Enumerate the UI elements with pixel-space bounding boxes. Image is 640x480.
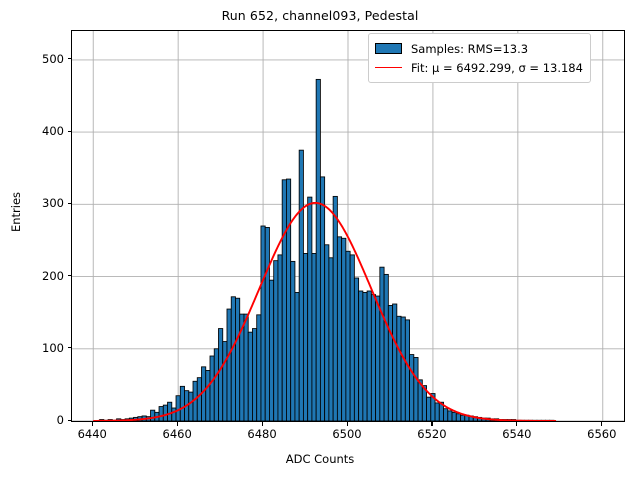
y-tick-label: 0 — [12, 413, 64, 427]
histogram-bar — [282, 180, 286, 421]
histogram-bar — [376, 296, 380, 421]
histogram-bar — [371, 295, 375, 421]
histogram-bar — [363, 292, 367, 421]
histogram-bar — [359, 291, 363, 421]
histogram-bar — [176, 396, 180, 421]
histogram-bar — [227, 309, 231, 421]
histogram-bar — [456, 414, 460, 421]
histogram-bar — [303, 253, 307, 421]
histogram-bar — [333, 196, 337, 421]
x-tick-label: 6460 — [163, 427, 192, 441]
legend-line-icon — [375, 67, 402, 68]
y-tick-mark — [68, 203, 72, 204]
y-tick-label: 200 — [12, 269, 64, 283]
histogram-bar — [337, 237, 341, 421]
histogram-bar — [393, 304, 397, 421]
histogram-bar — [189, 392, 193, 421]
histogram-bar — [308, 197, 312, 421]
legend-box: Samples: RMS=13.3 Fit: μ = 6492.299, σ =… — [368, 33, 591, 83]
histogram-bar — [159, 407, 163, 421]
x-tick-mark — [262, 422, 263, 426]
histogram-bar — [206, 370, 210, 421]
histogram-bar — [401, 317, 405, 421]
histogram-bar — [367, 291, 371, 421]
histogram-bar — [346, 251, 350, 421]
histogram-bar — [299, 150, 303, 421]
legend-label-samples: Samples: RMS=13.3 — [411, 42, 528, 56]
legend-item-samples: Samples: RMS=13.3 — [375, 39, 583, 58]
histogram-bar — [316, 79, 320, 421]
x-tick-mark — [177, 422, 178, 426]
histogram-bar — [320, 177, 324, 421]
histogram-bar — [427, 397, 431, 421]
x-tick-label: 6500 — [332, 427, 361, 441]
histogram-bar — [223, 342, 227, 421]
plot-svg — [72, 31, 624, 421]
histogram-bar — [388, 305, 392, 421]
y-tick-label: 100 — [12, 341, 64, 355]
x-tick-label: 6480 — [247, 427, 276, 441]
histogram-bar — [397, 316, 401, 421]
x-tick-label: 6540 — [502, 427, 531, 441]
x-axis-label: ADC Counts — [0, 452, 640, 466]
x-tick-mark — [347, 422, 348, 426]
histogram-bar — [295, 292, 299, 421]
histogram-bar — [286, 179, 290, 421]
histogram-bar — [257, 315, 261, 421]
legend-label-fit: Fit: μ = 6492.299, σ = 13.184 — [411, 61, 583, 75]
x-tick-mark — [516, 422, 517, 426]
legend-item-fit: Fit: μ = 6492.299, σ = 13.184 — [375, 58, 583, 77]
histogram-bar — [325, 245, 329, 421]
histogram-bar — [252, 329, 256, 421]
histogram-bar — [384, 274, 388, 421]
histogram-bar — [342, 238, 346, 421]
x-tick-label: 6520 — [417, 427, 446, 441]
x-tick-mark — [431, 422, 432, 426]
histogram-bar — [380, 267, 384, 421]
y-tick-mark — [68, 275, 72, 276]
histogram-bar — [354, 278, 358, 421]
y-axis-label: Entries — [9, 162, 23, 262]
histogram-bar — [350, 255, 354, 421]
y-tick-mark — [68, 131, 72, 132]
histogram-bar — [180, 386, 184, 421]
histogram-bar — [269, 280, 273, 421]
histogram-bar — [151, 410, 155, 421]
histogram-bar — [261, 226, 265, 421]
histogram-bar — [278, 255, 282, 421]
histogram-bar — [265, 227, 269, 421]
histogram-bar — [218, 329, 222, 421]
histogram-bar — [210, 356, 214, 421]
x-tick-label: 6560 — [587, 427, 616, 441]
chart-title: Run 652, channel093, Pedestal — [0, 8, 640, 23]
histogram-bar — [461, 415, 465, 421]
histogram-bar — [168, 402, 172, 421]
histogram-bar — [244, 314, 248, 421]
histogram-bar — [405, 320, 409, 421]
histogram-bar — [452, 412, 456, 421]
y-tick-mark — [68, 347, 72, 348]
histogram-bar — [197, 378, 201, 421]
y-tick-label: 500 — [12, 52, 64, 66]
histogram-bar — [414, 357, 418, 421]
x-tick-mark — [601, 422, 602, 426]
histogram-bars — [100, 79, 554, 421]
histogram-bar — [444, 409, 448, 421]
y-tick-label: 400 — [12, 124, 64, 138]
histogram-bar — [214, 349, 218, 421]
histogram-bar — [435, 403, 439, 421]
histogram-bar — [291, 261, 295, 421]
histogram-bar — [248, 332, 252, 421]
histogram-bar — [410, 355, 414, 421]
histogram-bar — [163, 405, 167, 421]
histogram-bar — [448, 411, 452, 421]
x-tick-label: 6440 — [78, 427, 107, 441]
plot-area — [71, 30, 625, 422]
histogram-bar — [235, 298, 239, 421]
figure-canvas: Run 652, channel093, Pedestal 6440646064… — [0, 0, 640, 480]
histogram-bar — [231, 297, 235, 421]
y-tick-mark — [68, 420, 72, 421]
histogram-bar — [274, 261, 278, 421]
x-tick-mark — [92, 422, 93, 426]
y-tick-mark — [68, 58, 72, 59]
histogram-bar — [329, 258, 333, 421]
legend-patch-icon — [375, 43, 402, 54]
histogram-bar — [172, 408, 176, 421]
histogram-bar — [312, 253, 316, 421]
